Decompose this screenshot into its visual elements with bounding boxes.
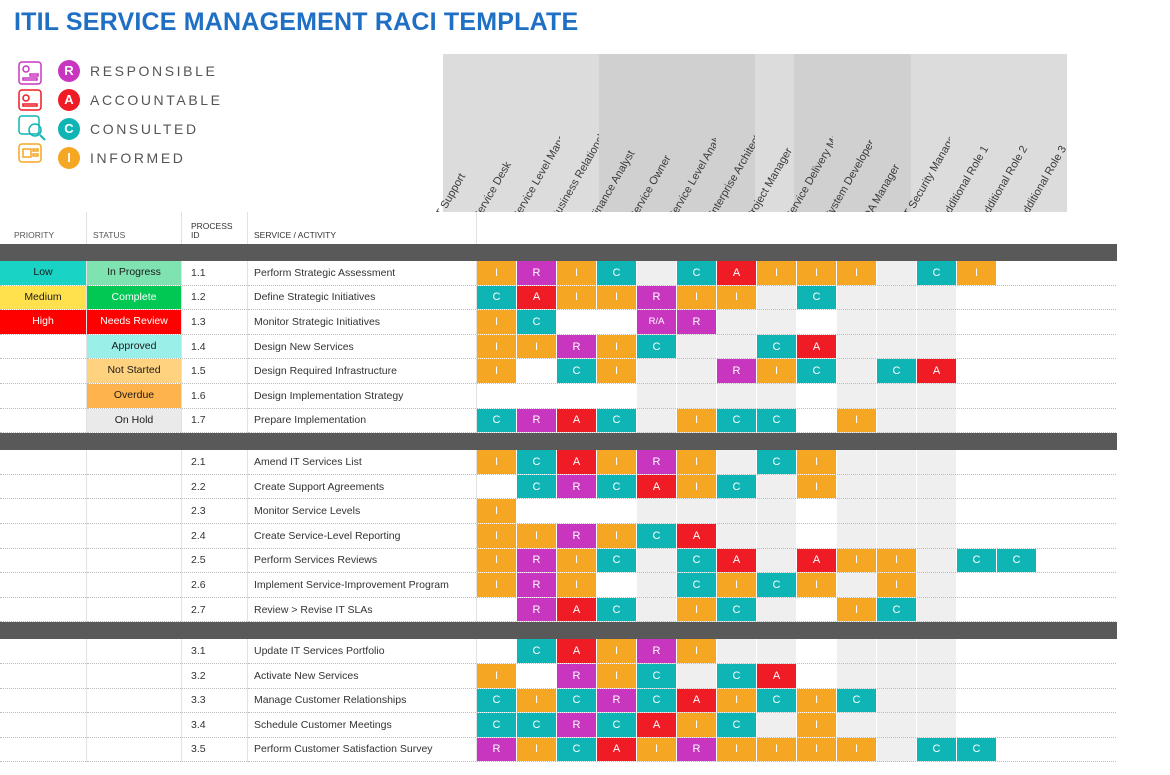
cell-raci[interactable]: R bbox=[677, 310, 717, 335]
cell-raci[interactable]: I bbox=[797, 474, 837, 499]
cell-raci[interactable]: I bbox=[797, 573, 837, 598]
cell-raci[interactable] bbox=[837, 663, 877, 688]
table-row[interactable]: Approved1.4Design New ServicesIIRICCA bbox=[0, 334, 1117, 359]
cell-raci[interactable] bbox=[1077, 310, 1117, 335]
cell-raci[interactable] bbox=[957, 310, 997, 335]
cell-activity[interactable]: Monitor Strategic Initiatives bbox=[248, 310, 477, 335]
cell-raci[interactable]: C bbox=[637, 523, 677, 548]
cell-raci[interactable]: R bbox=[717, 359, 757, 384]
cell-raci[interactable]: R bbox=[557, 334, 597, 359]
cell-raci[interactable]: C bbox=[717, 713, 757, 738]
table-row[interactable]: 3.3Manage Customer RelationshipsCICRCAIC… bbox=[0, 688, 1117, 713]
cell-status[interactable]: Needs Review bbox=[87, 310, 182, 335]
cell-raci[interactable]: I bbox=[477, 261, 517, 285]
cell-raci[interactable] bbox=[997, 474, 1037, 499]
cell-raci[interactable] bbox=[997, 573, 1037, 598]
cell-raci[interactable] bbox=[997, 639, 1037, 663]
cell-raci[interactable] bbox=[1037, 334, 1077, 359]
cell-raci[interactable]: C bbox=[597, 408, 637, 433]
cell-priority[interactable] bbox=[0, 688, 87, 713]
cell-priority[interactable]: Low bbox=[0, 261, 87, 285]
cell-raci[interactable]: A bbox=[557, 408, 597, 433]
cell-raci[interactable]: I bbox=[677, 713, 717, 738]
cell-raci[interactable] bbox=[1037, 663, 1077, 688]
cell-raci[interactable] bbox=[1077, 639, 1117, 663]
cell-priority[interactable] bbox=[0, 450, 87, 474]
cell-raci[interactable]: C bbox=[717, 663, 757, 688]
cell-raci[interactable] bbox=[957, 383, 997, 408]
cell-raci[interactable]: I bbox=[837, 737, 877, 762]
cell-process-id[interactable]: 3.5 bbox=[182, 737, 248, 762]
cell-raci[interactable]: I bbox=[757, 261, 797, 285]
cell-raci[interactable] bbox=[637, 597, 677, 622]
cell-status[interactable]: In Progress bbox=[87, 261, 182, 285]
cell-raci[interactable] bbox=[517, 383, 557, 408]
cell-raci[interactable]: C bbox=[717, 474, 757, 499]
cell-raci[interactable] bbox=[757, 285, 797, 310]
cell-raci[interactable]: C bbox=[717, 408, 757, 433]
cell-priority[interactable] bbox=[0, 663, 87, 688]
cell-raci[interactable]: I bbox=[757, 359, 797, 384]
cell-raci[interactable] bbox=[957, 573, 997, 598]
cell-status[interactable] bbox=[87, 663, 182, 688]
cell-raci[interactable] bbox=[1077, 499, 1117, 524]
cell-raci[interactable]: A bbox=[637, 474, 677, 499]
cell-raci[interactable]: C bbox=[717, 597, 757, 622]
table-row[interactable]: On Hold1.7Prepare ImplementationCRACICCI bbox=[0, 408, 1117, 433]
cell-raci[interactable] bbox=[917, 383, 957, 408]
cell-raci[interactable] bbox=[757, 523, 797, 548]
cell-raci[interactable] bbox=[1077, 450, 1117, 474]
cell-raci[interactable]: I bbox=[477, 450, 517, 474]
cell-process-id[interactable]: 3.2 bbox=[182, 663, 248, 688]
cell-raci[interactable] bbox=[877, 639, 917, 663]
cell-status[interactable] bbox=[87, 474, 182, 499]
cell-status[interactable] bbox=[87, 573, 182, 598]
cell-raci[interactable]: C bbox=[597, 474, 637, 499]
cell-raci[interactable] bbox=[1037, 450, 1077, 474]
cell-process-id[interactable]: 1.2 bbox=[182, 285, 248, 310]
cell-raci[interactable] bbox=[837, 713, 877, 738]
cell-raci[interactable] bbox=[997, 713, 1037, 738]
cell-raci[interactable]: C bbox=[477, 713, 517, 738]
cell-raci[interactable] bbox=[557, 499, 597, 524]
cell-raci[interactable]: I bbox=[477, 523, 517, 548]
cell-raci[interactable] bbox=[717, 450, 757, 474]
cell-raci[interactable] bbox=[757, 310, 797, 335]
cell-raci[interactable] bbox=[477, 383, 517, 408]
cell-activity[interactable]: Create Support Agreements bbox=[248, 474, 477, 499]
cell-raci[interactable] bbox=[917, 310, 957, 335]
table-row[interactable]: 2.2Create Support AgreementsCRCAICI bbox=[0, 474, 1117, 499]
cell-activity[interactable]: Perform Services Reviews bbox=[248, 548, 477, 573]
table-row[interactable]: 3.5Perform Customer Satisfaction SurveyR… bbox=[0, 737, 1117, 762]
table-row[interactable]: 2.3Monitor Service LevelsI bbox=[0, 499, 1117, 524]
cell-raci[interactable]: A bbox=[677, 523, 717, 548]
cell-raci[interactable] bbox=[757, 499, 797, 524]
cell-raci[interactable]: C bbox=[597, 261, 637, 285]
cell-raci[interactable] bbox=[1077, 383, 1117, 408]
cell-process-id[interactable]: 2.4 bbox=[182, 523, 248, 548]
cell-priority[interactable] bbox=[0, 383, 87, 408]
cell-raci[interactable] bbox=[1077, 523, 1117, 548]
cell-raci[interactable]: I bbox=[717, 737, 757, 762]
cell-raci[interactable] bbox=[917, 450, 957, 474]
cell-raci[interactable] bbox=[517, 359, 557, 384]
cell-raci[interactable]: C bbox=[517, 639, 557, 663]
cell-priority[interactable] bbox=[0, 573, 87, 598]
cell-raci[interactable]: R bbox=[637, 639, 677, 663]
cell-raci[interactable]: C bbox=[757, 688, 797, 713]
cell-raci[interactable] bbox=[957, 663, 997, 688]
cell-raci[interactable]: R bbox=[517, 408, 557, 433]
cell-raci[interactable] bbox=[917, 474, 957, 499]
cell-activity[interactable]: Review > Revise IT SLAs bbox=[248, 597, 477, 622]
cell-process-id[interactable]: 2.5 bbox=[182, 548, 248, 573]
cell-raci[interactable]: C bbox=[637, 663, 677, 688]
cell-raci[interactable]: C bbox=[957, 548, 997, 573]
cell-raci[interactable] bbox=[997, 450, 1037, 474]
cell-raci[interactable] bbox=[1077, 737, 1117, 762]
cell-raci[interactable]: I bbox=[677, 285, 717, 310]
cell-raci[interactable]: R bbox=[517, 548, 557, 573]
cell-raci[interactable]: A bbox=[557, 597, 597, 622]
cell-raci[interactable] bbox=[1037, 359, 1077, 384]
cell-raci[interactable] bbox=[557, 310, 597, 335]
cell-raci[interactable]: R bbox=[677, 737, 717, 762]
cell-status[interactable]: Overdue bbox=[87, 383, 182, 408]
table-row[interactable]: 2.7Review > Revise IT SLAsRACICIC bbox=[0, 597, 1117, 622]
cell-raci[interactable] bbox=[997, 285, 1037, 310]
cell-raci[interactable]: R bbox=[557, 663, 597, 688]
cell-raci[interactable] bbox=[1037, 499, 1077, 524]
cell-raci[interactable] bbox=[637, 383, 677, 408]
cell-raci[interactable] bbox=[957, 597, 997, 622]
cell-raci[interactable] bbox=[957, 359, 997, 384]
cell-raci[interactable]: I bbox=[557, 261, 597, 285]
cell-raci[interactable]: I bbox=[677, 408, 717, 433]
cell-raci[interactable]: C bbox=[517, 474, 557, 499]
cell-raci[interactable] bbox=[517, 663, 557, 688]
cell-raci[interactable] bbox=[957, 688, 997, 713]
cell-raci[interactable] bbox=[877, 713, 917, 738]
cell-raci[interactable] bbox=[877, 408, 917, 433]
cell-raci[interactable]: A bbox=[717, 261, 757, 285]
cell-raci[interactable]: I bbox=[557, 285, 597, 310]
cell-raci[interactable] bbox=[1077, 408, 1117, 433]
cell-raci[interactable] bbox=[997, 737, 1037, 762]
cell-raci[interactable]: C bbox=[677, 548, 717, 573]
cell-raci[interactable] bbox=[717, 499, 757, 524]
cell-raci[interactable] bbox=[677, 334, 717, 359]
cell-raci[interactable]: I bbox=[597, 334, 637, 359]
cell-raci[interactable]: R bbox=[557, 474, 597, 499]
cell-raci[interactable]: C bbox=[597, 548, 637, 573]
cell-status[interactable] bbox=[87, 597, 182, 622]
cell-raci[interactable] bbox=[957, 285, 997, 310]
cell-raci[interactable] bbox=[997, 523, 1037, 548]
cell-raci[interactable] bbox=[1037, 408, 1077, 433]
cell-activity[interactable]: Perform Customer Satisfaction Survey bbox=[248, 737, 477, 762]
cell-raci[interactable] bbox=[637, 359, 677, 384]
cell-raci[interactable] bbox=[957, 499, 997, 524]
cell-activity[interactable]: Update IT Services Portfolio bbox=[248, 639, 477, 663]
cell-priority[interactable] bbox=[0, 523, 87, 548]
cell-raci[interactable]: R bbox=[637, 450, 677, 474]
cell-raci[interactable] bbox=[917, 639, 957, 663]
cell-raci[interactable]: C bbox=[517, 713, 557, 738]
table-row[interactable]: 3.2Activate New ServicesIRICCA bbox=[0, 663, 1117, 688]
cell-status[interactable] bbox=[87, 523, 182, 548]
cell-raci[interactable] bbox=[957, 639, 997, 663]
cell-raci[interactable] bbox=[1077, 359, 1117, 384]
cell-raci[interactable] bbox=[677, 663, 717, 688]
cell-raci[interactable]: C bbox=[877, 597, 917, 622]
cell-raci[interactable]: C bbox=[477, 688, 517, 713]
cell-process-id[interactable]: 1.5 bbox=[182, 359, 248, 384]
cell-raci[interactable]: I bbox=[677, 450, 717, 474]
cell-raci[interactable] bbox=[917, 523, 957, 548]
cell-raci[interactable] bbox=[877, 474, 917, 499]
cell-raci[interactable]: I bbox=[837, 261, 877, 285]
cell-raci[interactable] bbox=[1077, 334, 1117, 359]
cell-raci[interactable]: C bbox=[597, 713, 637, 738]
cell-raci[interactable] bbox=[1037, 597, 1077, 622]
table-row[interactable]: Not Started1.5Design Required Infrastruc… bbox=[0, 359, 1117, 384]
cell-raci[interactable]: I bbox=[477, 499, 517, 524]
cell-raci[interactable]: I bbox=[597, 359, 637, 384]
cell-raci[interactable] bbox=[517, 499, 557, 524]
cell-raci[interactable]: C bbox=[997, 548, 1037, 573]
cell-raci[interactable]: R bbox=[557, 713, 597, 738]
cell-priority[interactable] bbox=[0, 597, 87, 622]
cell-raci[interactable]: I bbox=[597, 285, 637, 310]
cell-raci[interactable]: I bbox=[517, 334, 557, 359]
cell-raci[interactable] bbox=[757, 474, 797, 499]
cell-raci[interactable]: A bbox=[717, 548, 757, 573]
cell-raci[interactable] bbox=[837, 573, 877, 598]
cell-process-id[interactable]: 1.4 bbox=[182, 334, 248, 359]
cell-raci[interactable] bbox=[677, 499, 717, 524]
cell-raci[interactable] bbox=[1037, 261, 1077, 285]
cell-raci[interactable] bbox=[837, 474, 877, 499]
cell-raci[interactable] bbox=[677, 359, 717, 384]
cell-raci[interactable]: R bbox=[477, 737, 517, 762]
cell-raci[interactable]: C bbox=[917, 261, 957, 285]
cell-raci[interactable]: I bbox=[597, 639, 637, 663]
cell-raci[interactable] bbox=[637, 261, 677, 285]
cell-raci[interactable]: C bbox=[757, 408, 797, 433]
cell-activity[interactable]: Amend IT Services List bbox=[248, 450, 477, 474]
cell-raci[interactable]: I bbox=[477, 663, 517, 688]
cell-raci[interactable]: I bbox=[517, 688, 557, 713]
cell-raci[interactable] bbox=[797, 499, 837, 524]
cell-raci[interactable] bbox=[797, 523, 837, 548]
cell-raci[interactable] bbox=[1077, 663, 1117, 688]
cell-raci[interactable] bbox=[477, 639, 517, 663]
table-row[interactable]: 3.1Update IT Services PortfolioCAIRI bbox=[0, 639, 1117, 663]
cell-raci[interactable]: I bbox=[517, 737, 557, 762]
cell-raci[interactable]: I bbox=[877, 548, 917, 573]
cell-raci[interactable]: A bbox=[677, 688, 717, 713]
cell-raci[interactable]: C bbox=[917, 737, 957, 762]
cell-process-id[interactable]: 1.3 bbox=[182, 310, 248, 335]
cell-raci[interactable]: A bbox=[597, 737, 637, 762]
cell-raci[interactable] bbox=[957, 450, 997, 474]
cell-raci[interactable] bbox=[957, 474, 997, 499]
cell-raci[interactable]: I bbox=[837, 408, 877, 433]
cell-raci[interactable] bbox=[1077, 261, 1117, 285]
cell-raci[interactable] bbox=[597, 499, 637, 524]
cell-raci[interactable] bbox=[1077, 285, 1117, 310]
cell-raci[interactable] bbox=[557, 383, 597, 408]
cell-raci[interactable]: C bbox=[557, 688, 597, 713]
cell-raci[interactable]: I bbox=[717, 573, 757, 598]
cell-raci[interactable]: I bbox=[597, 450, 637, 474]
cell-raci[interactable] bbox=[877, 663, 917, 688]
cell-priority[interactable]: High bbox=[0, 310, 87, 335]
cell-raci[interactable]: C bbox=[637, 334, 677, 359]
cell-priority[interactable] bbox=[0, 408, 87, 433]
cell-raci[interactable] bbox=[877, 383, 917, 408]
cell-raci[interactable] bbox=[1037, 474, 1077, 499]
cell-raci[interactable]: A bbox=[917, 359, 957, 384]
cell-raci[interactable] bbox=[1037, 573, 1077, 598]
cell-raci[interactable] bbox=[757, 639, 797, 663]
cell-raci[interactable] bbox=[757, 713, 797, 738]
cell-raci[interactable] bbox=[997, 310, 1037, 335]
cell-raci[interactable] bbox=[997, 359, 1037, 384]
cell-raci[interactable] bbox=[997, 663, 1037, 688]
cell-status[interactable] bbox=[87, 548, 182, 573]
cell-raci[interactable]: I bbox=[717, 285, 757, 310]
cell-raci[interactable] bbox=[717, 334, 757, 359]
cell-raci[interactable] bbox=[837, 285, 877, 310]
cell-raci[interactable] bbox=[1037, 285, 1077, 310]
cell-raci[interactable] bbox=[877, 523, 917, 548]
cell-raci[interactable]: C bbox=[557, 737, 597, 762]
cell-priority[interactable]: Medium bbox=[0, 285, 87, 310]
cell-raci[interactable] bbox=[637, 573, 677, 598]
cell-activity[interactable]: Implement Service-Improvement Program bbox=[248, 573, 477, 598]
cell-raci[interactable]: A bbox=[797, 334, 837, 359]
cell-raci[interactable] bbox=[877, 688, 917, 713]
cell-raci[interactable] bbox=[1037, 713, 1077, 738]
cell-raci[interactable] bbox=[637, 408, 677, 433]
cell-activity[interactable]: Perform Strategic Assessment bbox=[248, 261, 477, 285]
cell-raci[interactable]: I bbox=[797, 713, 837, 738]
cell-raci[interactable] bbox=[1037, 548, 1077, 573]
cell-raci[interactable] bbox=[877, 310, 917, 335]
cell-raci[interactable] bbox=[797, 663, 837, 688]
table-row[interactable]: 3.4Schedule Customer MeetingsCCRCAICI bbox=[0, 713, 1117, 738]
table-row[interactable]: MediumComplete1.2Define Strategic Initia… bbox=[0, 285, 1117, 310]
cell-raci[interactable] bbox=[957, 523, 997, 548]
cell-raci[interactable]: I bbox=[597, 663, 637, 688]
cell-raci[interactable]: C bbox=[477, 285, 517, 310]
cell-raci[interactable]: R bbox=[517, 597, 557, 622]
cell-raci[interactable] bbox=[717, 639, 757, 663]
cell-process-id[interactable]: 3.3 bbox=[182, 688, 248, 713]
cell-activity[interactable]: Schedule Customer Meetings bbox=[248, 713, 477, 738]
table-row[interactable]: 2.1Amend IT Services ListICAIRICI bbox=[0, 450, 1117, 474]
cell-raci[interactable] bbox=[797, 408, 837, 433]
cell-raci[interactable] bbox=[1077, 548, 1117, 573]
cell-status[interactable] bbox=[87, 639, 182, 663]
cell-raci[interactable]: I bbox=[677, 597, 717, 622]
cell-raci[interactable] bbox=[917, 408, 957, 433]
cell-raci[interactable] bbox=[957, 713, 997, 738]
cell-raci[interactable] bbox=[797, 597, 837, 622]
cell-raci[interactable]: C bbox=[757, 573, 797, 598]
cell-priority[interactable] bbox=[0, 548, 87, 573]
cell-raci[interactable]: C bbox=[757, 334, 797, 359]
cell-raci[interactable]: R bbox=[557, 523, 597, 548]
cell-raci[interactable] bbox=[1077, 474, 1117, 499]
cell-raci[interactable] bbox=[837, 334, 877, 359]
cell-raci[interactable] bbox=[797, 383, 837, 408]
table-row[interactable]: 2.4Create Service-Level ReportingIIRICA bbox=[0, 523, 1117, 548]
cell-raci[interactable]: I bbox=[477, 310, 517, 335]
cell-raci[interactable] bbox=[997, 688, 1037, 713]
cell-priority[interactable] bbox=[0, 474, 87, 499]
cell-raci[interactable] bbox=[717, 310, 757, 335]
cell-raci[interactable] bbox=[837, 639, 877, 663]
cell-raci[interactable]: I bbox=[557, 573, 597, 598]
cell-raci[interactable] bbox=[757, 548, 797, 573]
cell-status[interactable]: Approved bbox=[87, 334, 182, 359]
cell-raci[interactable] bbox=[917, 334, 957, 359]
cell-activity[interactable]: Create Service-Level Reporting bbox=[248, 523, 477, 548]
cell-raci[interactable]: C bbox=[517, 310, 557, 335]
cell-priority[interactable] bbox=[0, 713, 87, 738]
cell-raci[interactable]: A bbox=[637, 713, 677, 738]
cell-raci[interactable] bbox=[797, 639, 837, 663]
cell-raci[interactable] bbox=[637, 548, 677, 573]
cell-raci[interactable] bbox=[477, 474, 517, 499]
cell-raci[interactable]: C bbox=[797, 359, 837, 384]
cell-raci[interactable]: C bbox=[557, 359, 597, 384]
cell-raci[interactable]: A bbox=[517, 285, 557, 310]
cell-raci[interactable]: C bbox=[757, 450, 797, 474]
cell-process-id[interactable]: 1.7 bbox=[182, 408, 248, 433]
cell-raci[interactable] bbox=[997, 261, 1037, 285]
cell-raci[interactable]: I bbox=[477, 548, 517, 573]
cell-raci[interactable]: C bbox=[837, 688, 877, 713]
table-row[interactable]: 2.5Perform Services ReviewsIRICCAAIICC bbox=[0, 548, 1117, 573]
cell-raci[interactable]: R bbox=[517, 261, 557, 285]
cell-raci[interactable]: I bbox=[517, 523, 557, 548]
cell-raci[interactable]: I bbox=[837, 548, 877, 573]
cell-raci[interactable]: C bbox=[597, 597, 637, 622]
cell-raci[interactable]: I bbox=[597, 523, 637, 548]
cell-status[interactable]: On Hold bbox=[87, 408, 182, 433]
cell-raci[interactable]: I bbox=[477, 359, 517, 384]
cell-raci[interactable] bbox=[597, 383, 637, 408]
cell-activity[interactable]: Activate New Services bbox=[248, 663, 477, 688]
cell-raci[interactable]: R bbox=[597, 688, 637, 713]
cell-raci[interactable] bbox=[717, 383, 757, 408]
cell-priority[interactable] bbox=[0, 499, 87, 524]
cell-raci[interactable]: C bbox=[957, 737, 997, 762]
cell-raci[interactable] bbox=[1037, 310, 1077, 335]
cell-raci[interactable]: A bbox=[557, 639, 597, 663]
cell-status[interactable] bbox=[87, 499, 182, 524]
cell-raci[interactable] bbox=[917, 499, 957, 524]
cell-raci[interactable]: I bbox=[957, 261, 997, 285]
cell-activity[interactable]: Prepare Implementation bbox=[248, 408, 477, 433]
cell-raci[interactable] bbox=[837, 359, 877, 384]
